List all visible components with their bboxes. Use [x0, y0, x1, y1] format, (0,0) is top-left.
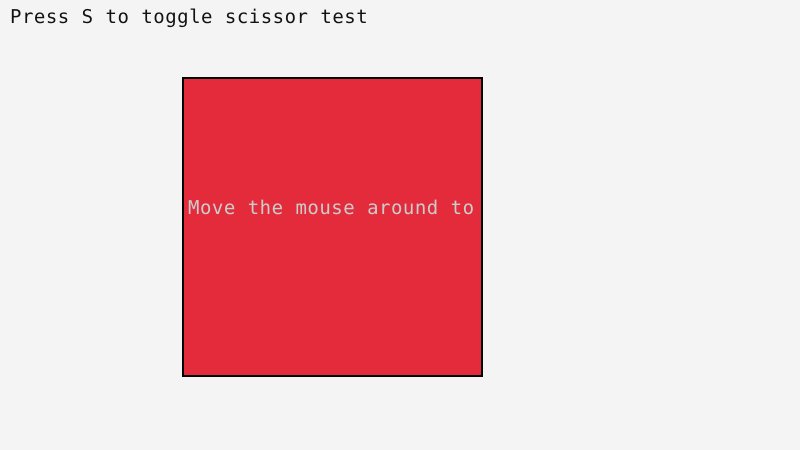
demo-canvas[interactable]: Press S to toggle scissor test Move the …	[0, 0, 800, 450]
scissor-clipped-message: Move the mouse around to reveal the scis…	[188, 197, 483, 219]
scissor-test-instruction: Press S to toggle scissor test	[10, 6, 368, 28]
scissor-region-rect[interactable]: Move the mouse around to reveal the scis…	[182, 77, 483, 377]
